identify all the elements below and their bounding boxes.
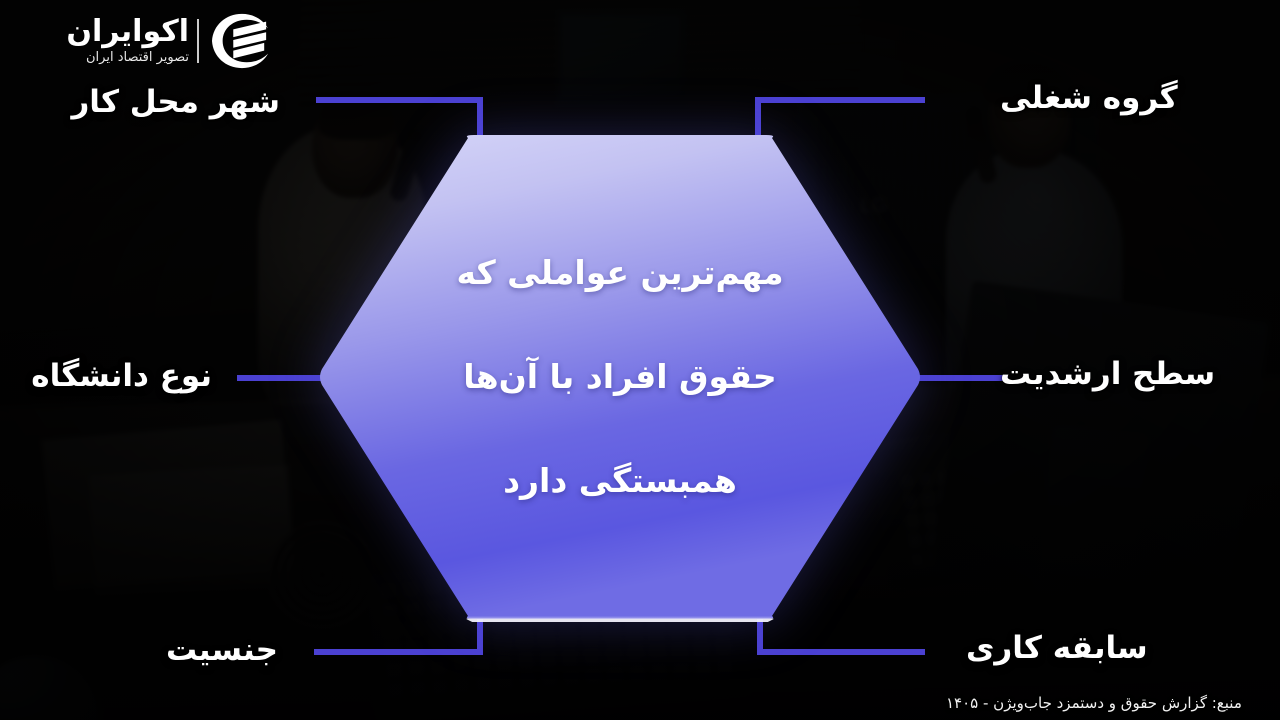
brand-logo: اکوایران تصویر اقتصاد ایران bbox=[14, 8, 272, 74]
factor-label-seniority-level: سطح ارشدیت bbox=[1000, 356, 1215, 392]
central-hexagon bbox=[318, 132, 922, 622]
factor-label-work-experience: سابقه کاری bbox=[966, 630, 1148, 666]
hexagon-bottom-rim-highlight bbox=[468, 616, 772, 619]
factor-label-university-type: نوع دانشگاه bbox=[31, 358, 212, 394]
source-attribution: منبع: گزارش حقوق و دستمزد جاب‌ویژن - ۱۴۰… bbox=[946, 694, 1242, 712]
eco-iran-globe-swoosh-icon bbox=[210, 12, 272, 70]
factor-label-city-of-workplace: شهر محل کار bbox=[71, 84, 280, 120]
logo-divider bbox=[197, 19, 199, 63]
factor-label-gender: جنسیت bbox=[166, 632, 278, 668]
factor-label-job-group: گروه شغلی bbox=[1000, 80, 1178, 116]
hexagon-fill bbox=[320, 135, 920, 619]
infographic-canvas: LG bbox=[0, 0, 1280, 720]
logo-tagline: تصویر اقتصاد ایران bbox=[66, 50, 189, 66]
logo-brand-name: اکوایران bbox=[66, 16, 189, 47]
